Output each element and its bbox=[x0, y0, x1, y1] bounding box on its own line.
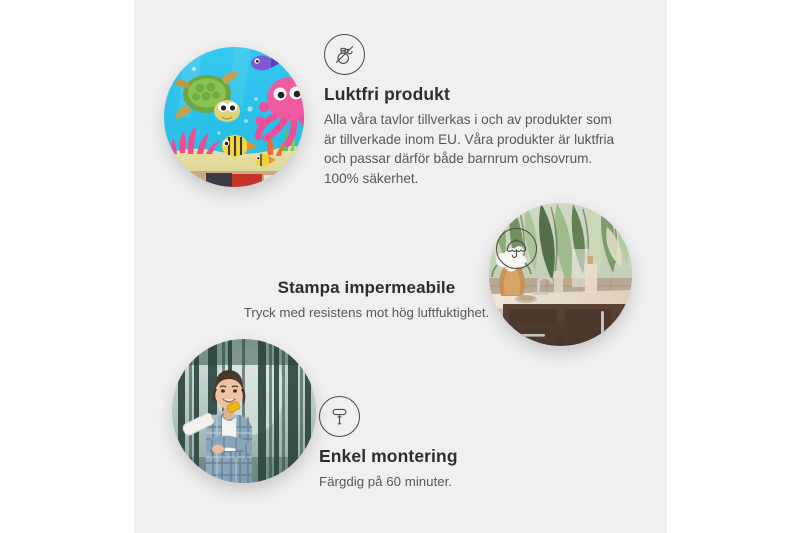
feature-easy-mounting-icon-wrap bbox=[319, 396, 579, 437]
feature-waterproof-icon-wrap bbox=[194, 228, 539, 269]
feature-waterproof-title: Stampa impermeabile bbox=[194, 278, 539, 298]
feature-waterproof: Stampa impermeabile Tryck med resistens … bbox=[194, 228, 539, 323]
underwater-cartoon-wallpaper-photo bbox=[164, 47, 304, 187]
no-fragrance-icon bbox=[324, 34, 365, 75]
feature-waterproof-body: Tryck med resistens mot hög luftfuktighe… bbox=[194, 303, 539, 323]
promo-infographic-page: Luktfri produkt Alla våra tavlor tillver… bbox=[0, 0, 800, 533]
feature-easy-mounting-body: Färgdig på 60 minuter. bbox=[319, 472, 579, 492]
umbrella-icon bbox=[496, 228, 537, 269]
feature-odorless: Luktfri produkt Alla våra tavlor tillver… bbox=[324, 34, 624, 188]
feature-odorless-title: Luktfri produkt bbox=[324, 84, 624, 105]
paint-roller-icon bbox=[319, 396, 360, 437]
feature-easy-mounting: Enkel montering Färgdig på 60 minuter. bbox=[319, 396, 579, 492]
feature-odorless-body: Alla våra tavlor tillverkas i och av pro… bbox=[324, 110, 624, 188]
decorator-forest-wallpaper-photo bbox=[172, 339, 316, 483]
content-panel: Luktfri produkt Alla våra tavlor tillver… bbox=[134, 0, 667, 533]
feature-odorless-icon-wrap bbox=[324, 34, 624, 75]
feature-easy-mounting-title: Enkel montering bbox=[319, 446, 579, 467]
